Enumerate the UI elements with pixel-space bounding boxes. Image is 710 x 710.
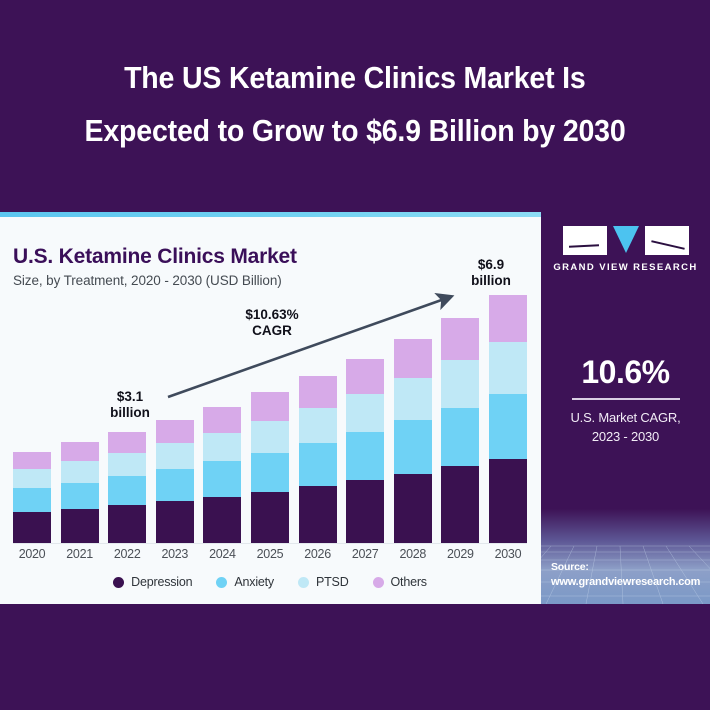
bar-segment-anxiety-2023 <box>156 469 194 501</box>
x-tick-2022: 2022 <box>108 547 146 561</box>
bar-segment-anxiety-2026 <box>299 443 337 486</box>
source-url[interactable]: www.grandviewresearch.com <box>551 575 710 590</box>
bar-segment-others-2023 <box>156 420 194 444</box>
bar-column-2023 <box>156 420 194 543</box>
chart-panel: U.S. Ketamine Clinics Market Size, by Tr… <box>0 217 541 604</box>
legend-label-ptsd: PTSD <box>316 575 349 589</box>
logo-right-block-icon <box>645 226 689 255</box>
bar-segment-others-2024 <box>203 407 241 433</box>
x-tick-2024: 2024 <box>203 547 241 561</box>
legend-item-others[interactable]: Others <box>373 575 427 589</box>
x-tick-2021: 2021 <box>61 547 99 561</box>
bar-segment-depression-2022 <box>108 505 146 543</box>
cagr-percentage: 10.6% <box>541 354 710 390</box>
x-tick-2023: 2023 <box>156 547 194 561</box>
bar-column-2021 <box>61 442 99 543</box>
legend-item-depression[interactable]: Depression <box>113 575 192 589</box>
chart-subtitle: Size, by Treatment, 2020 - 2030 (USD Bil… <box>13 273 282 288</box>
perspective-grid-graphic: Source: www.grandviewresearch.com <box>541 482 710 604</box>
bar-segment-anxiety-2027 <box>346 432 384 480</box>
legend-label-anxiety: Anxiety <box>234 575 274 589</box>
bar-segment-ptsd-2025 <box>251 421 289 453</box>
bar-column-2030 <box>489 295 527 543</box>
bar-column-2028 <box>394 339 432 543</box>
bar-segment-depression-2021 <box>61 509 99 543</box>
bar-segment-depression-2027 <box>346 480 384 543</box>
legend-label-others: Others <box>391 575 427 589</box>
bar-segment-others-2022 <box>108 432 146 453</box>
bar-column-2027 <box>346 359 384 543</box>
logo-triangle-icon <box>613 226 639 253</box>
plot-area <box>13 295 527 543</box>
logo-wordmark: GRAND VIEW RESEARCH <box>553 262 697 273</box>
bar-column-2026 <box>299 376 337 543</box>
infographic-root: The US Ketamine Clinics Market Is Expect… <box>0 0 710 710</box>
x-tick-2028: 2028 <box>394 547 432 561</box>
bar-segment-depression-2024 <box>203 497 241 543</box>
bar-segment-anxiety-2030 <box>489 394 527 459</box>
x-axis-line <box>13 543 527 544</box>
annotation-end-unit: billion <box>455 273 527 289</box>
bar-segment-others-2027 <box>346 359 384 394</box>
bar-segment-others-2026 <box>299 376 337 408</box>
cagr-divider <box>572 398 680 400</box>
legend-swatch-ptsd-icon <box>298 577 309 588</box>
chart-title: U.S. Ketamine Clinics Market <box>13 245 297 269</box>
bar-segment-anxiety-2022 <box>108 476 146 505</box>
legend-item-anxiety[interactable]: Anxiety <box>216 575 274 589</box>
bar-segment-anxiety-2025 <box>251 453 289 492</box>
bar-segment-anxiety-2028 <box>394 420 432 473</box>
bar-segment-anxiety-2021 <box>61 483 99 509</box>
cagr-caption-line-1: U.S. Market CAGR, <box>541 408 710 427</box>
source-label: Source: <box>551 560 710 575</box>
bar-segment-depression-2028 <box>394 474 432 543</box>
x-axis-tick-labels: 2020202120222023202420252026202720282029… <box>13 547 527 561</box>
bar-segment-anxiety-2020 <box>13 488 51 512</box>
bar-segment-depression-2029 <box>441 466 479 543</box>
bar-segment-ptsd-2022 <box>108 453 146 476</box>
cagr-highlight: 10.6% U.S. Market CAGR, 2023 - 2030 <box>541 354 710 446</box>
logo-left-block-icon <box>563 226 607 255</box>
bar-segment-others-2020 <box>13 452 51 470</box>
x-tick-2025: 2025 <box>251 547 289 561</box>
bar-segment-ptsd-2028 <box>394 378 432 421</box>
x-tick-2026: 2026 <box>299 547 337 561</box>
bar-segment-depression-2025 <box>251 492 289 543</box>
stacked-bar-series <box>13 295 527 543</box>
banner-title-line-2: Expected to Grow to $6.9 Billion by 2030 <box>84 104 625 157</box>
logo-mark-icon <box>563 226 689 255</box>
annotation-end-number: $6.9 <box>455 257 527 273</box>
chart-legend: DepressionAnxietyPTSDOthers <box>13 575 527 589</box>
cagr-caption-line-2: 2023 - 2030 <box>541 427 710 446</box>
bar-segment-ptsd-2023 <box>156 443 194 469</box>
bar-segment-others-2029 <box>441 318 479 361</box>
bar-segment-ptsd-2024 <box>203 433 241 461</box>
bar-segment-ptsd-2030 <box>489 342 527 394</box>
bar-segment-anxiety-2029 <box>441 408 479 467</box>
bar-segment-ptsd-2029 <box>441 360 479 407</box>
bar-segment-ptsd-2020 <box>13 469 51 488</box>
bar-segment-ptsd-2021 <box>61 461 99 482</box>
annotation-end-value: $6.9 billion <box>455 257 527 289</box>
grand-view-research-logo: GRAND VIEW RESEARCH <box>541 226 710 273</box>
brand-side-panel: GRAND VIEW RESEARCH 10.6% U.S. Market CA… <box>541 212 710 604</box>
legend-swatch-others-icon <box>373 577 384 588</box>
bar-segment-ptsd-2027 <box>346 394 384 432</box>
banner-header: The US Ketamine Clinics Market Is Expect… <box>0 0 710 208</box>
bar-column-2020 <box>13 452 51 543</box>
legend-swatch-depression-icon <box>113 577 124 588</box>
banner-title-line-1: The US Ketamine Clinics Market Is <box>124 51 585 104</box>
x-tick-2020: 2020 <box>13 547 51 561</box>
legend-label-depression: Depression <box>131 575 192 589</box>
x-tick-2027: 2027 <box>346 547 384 561</box>
x-tick-2030: 2030 <box>489 547 527 561</box>
bar-segment-depression-2020 <box>13 512 51 543</box>
bar-segment-others-2028 <box>394 339 432 378</box>
footer-background <box>0 604 710 710</box>
bar-segment-ptsd-2026 <box>299 408 337 443</box>
legend-item-ptsd[interactable]: PTSD <box>298 575 349 589</box>
bar-segment-others-2025 <box>251 392 289 421</box>
x-tick-2029: 2029 <box>441 547 479 561</box>
bar-segment-others-2030 <box>489 295 527 342</box>
bar-segment-depression-2030 <box>489 459 527 543</box>
bar-segment-depression-2026 <box>299 486 337 543</box>
legend-swatch-anxiety-icon <box>216 577 227 588</box>
source-attribution: Source: www.grandviewresearch.com <box>551 560 710 590</box>
bar-segment-anxiety-2024 <box>203 461 241 497</box>
bar-column-2029 <box>441 318 479 543</box>
bar-segment-depression-2023 <box>156 501 194 543</box>
bar-column-2022 <box>108 432 146 543</box>
bar-segment-others-2021 <box>61 442 99 461</box>
bar-column-2025 <box>251 392 289 543</box>
bar-column-2024 <box>203 407 241 543</box>
